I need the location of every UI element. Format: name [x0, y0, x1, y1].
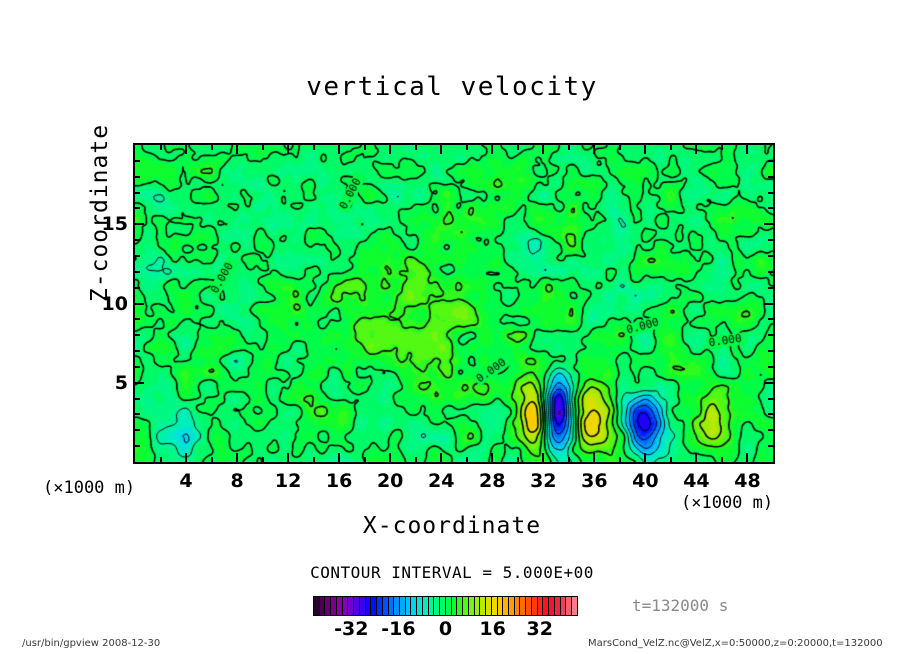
- axis-tick: [135, 429, 140, 431]
- axis-tick: [593, 145, 595, 154]
- x-tick-label: 20: [377, 470, 403, 492]
- contour-interval-label: CONTOUR INTERVAL = 5.000E+00: [0, 563, 904, 582]
- axis-tick: [466, 145, 468, 150]
- axis-tick: [768, 255, 773, 257]
- axis-tick: [593, 453, 595, 462]
- x-unit-left-label: (×1000 m): [43, 478, 135, 498]
- axis-tick: [236, 145, 238, 154]
- axis-tick: [768, 445, 773, 447]
- x-tick-label: 40: [632, 470, 658, 492]
- x-unit-right-label: (×1000 m): [681, 493, 773, 513]
- axis-tick: [619, 457, 621, 462]
- axis-tick: [135, 413, 140, 415]
- axis-tick: [287, 453, 289, 462]
- axis-tick: [389, 145, 391, 154]
- axis-tick: [764, 303, 773, 305]
- colorbar-gradient[interactable]: [313, 596, 578, 616]
- axis-tick: [768, 207, 773, 209]
- axis-tick: [768, 160, 773, 162]
- x-tick-label: 32: [530, 470, 556, 492]
- colorbar-tick-label: -32: [334, 618, 368, 640]
- axis-tick: [542, 145, 544, 154]
- axis-tick: [491, 145, 493, 154]
- axis-tick: [135, 398, 140, 400]
- axis-tick: [768, 318, 773, 320]
- axis-tick: [768, 350, 773, 352]
- colorbar-tick-label: 32: [526, 618, 552, 640]
- axis-tick: [768, 192, 773, 194]
- axis-tick: [389, 453, 391, 462]
- colorbar-cell: [572, 597, 577, 615]
- axis-tick: [542, 453, 544, 462]
- axis-tick: [135, 207, 140, 209]
- x-tick-label: 24: [428, 470, 454, 492]
- axis-tick: [415, 145, 417, 150]
- x-tick-label: 4: [179, 470, 192, 492]
- y-axis-title: Z-coordinate: [87, 73, 113, 353]
- x-tick-label: 44: [683, 470, 709, 492]
- axis-tick: [364, 457, 366, 462]
- y-tick-label: 5: [115, 372, 128, 394]
- axis-tick: [768, 287, 773, 289]
- axis-tick: [135, 287, 140, 289]
- axis-tick: [644, 453, 646, 462]
- axis-tick: [236, 453, 238, 462]
- axis-tick: [135, 223, 144, 225]
- axis-tick: [764, 382, 773, 384]
- colorbar-tick-label: 0: [439, 618, 452, 640]
- axis-tick: [338, 453, 340, 462]
- axis-tick: [185, 453, 187, 462]
- plot-area[interactable]: [133, 143, 775, 464]
- axis-tick: [135, 255, 140, 257]
- axis-tick: [768, 413, 773, 415]
- axis-tick: [135, 382, 144, 384]
- page-title: vertical velocity: [0, 72, 904, 102]
- axis-tick: [160, 145, 162, 150]
- axis-tick: [160, 457, 162, 462]
- axis-tick: [135, 192, 140, 194]
- axis-tick: [135, 239, 140, 241]
- axis-tick: [695, 145, 697, 154]
- footer-command: /usr/bin/gpview 2008-12-30: [22, 638, 160, 649]
- axis-tick: [768, 239, 773, 241]
- x-tick-label: 48: [734, 470, 760, 492]
- x-axis-title: X-coordinate: [0, 513, 904, 539]
- x-tick-label: 8: [230, 470, 243, 492]
- axis-tick: [768, 366, 773, 368]
- axis-tick: [211, 457, 213, 462]
- axis-tick: [262, 145, 264, 150]
- axis-tick: [721, 145, 723, 150]
- axis-tick: [135, 445, 140, 447]
- axis-tick: [517, 145, 519, 150]
- axis-tick: [568, 457, 570, 462]
- x-tick-label: 36: [581, 470, 607, 492]
- axis-tick: [764, 223, 773, 225]
- axis-tick: [415, 457, 417, 462]
- axis-tick: [466, 457, 468, 462]
- axis-tick: [768, 271, 773, 273]
- axis-tick: [135, 176, 140, 178]
- axis-tick: [695, 453, 697, 462]
- axis-tick: [313, 457, 315, 462]
- axis-tick: [440, 145, 442, 154]
- axis-tick: [746, 145, 748, 154]
- axis-tick: [135, 318, 140, 320]
- axis-tick: [768, 429, 773, 431]
- axis-tick: [721, 457, 723, 462]
- axis-tick: [135, 271, 140, 273]
- x-tick-label: 12: [275, 470, 301, 492]
- axis-tick: [211, 145, 213, 150]
- axis-tick: [262, 457, 264, 462]
- x-tick-label: 16: [326, 470, 352, 492]
- axis-tick: [313, 145, 315, 150]
- axis-tick: [768, 176, 773, 178]
- axis-tick: [135, 334, 140, 336]
- axis-tick: [135, 160, 140, 162]
- colorbar-tick-label: 16: [479, 618, 505, 640]
- footer-datasource: MarsCond_VelZ.nc@VelZ,x=0:50000,z=0:2000…: [588, 638, 883, 649]
- colorbar-tick-label: -16: [381, 618, 415, 640]
- axis-tick: [364, 145, 366, 150]
- axis-tick: [568, 145, 570, 150]
- x-tick-label: 28: [479, 470, 505, 492]
- axis-tick: [440, 453, 442, 462]
- axis-tick: [185, 145, 187, 154]
- axis-tick: [619, 145, 621, 150]
- axis-tick: [135, 303, 144, 305]
- axis-tick: [135, 350, 140, 352]
- axis-tick: [670, 457, 672, 462]
- contour-plot-canvas: [135, 145, 773, 462]
- axis-tick: [670, 145, 672, 150]
- axis-tick: [644, 145, 646, 154]
- axis-tick: [491, 453, 493, 462]
- axis-tick: [746, 453, 748, 462]
- axis-tick: [135, 366, 140, 368]
- axis-tick: [768, 334, 773, 336]
- axis-tick: [287, 145, 289, 154]
- colorbar[interactable]: -32-1601632: [313, 596, 578, 616]
- axis-tick: [768, 398, 773, 400]
- axis-tick: [517, 457, 519, 462]
- time-label: t=132000 s: [632, 596, 728, 615]
- axis-tick: [338, 145, 340, 154]
